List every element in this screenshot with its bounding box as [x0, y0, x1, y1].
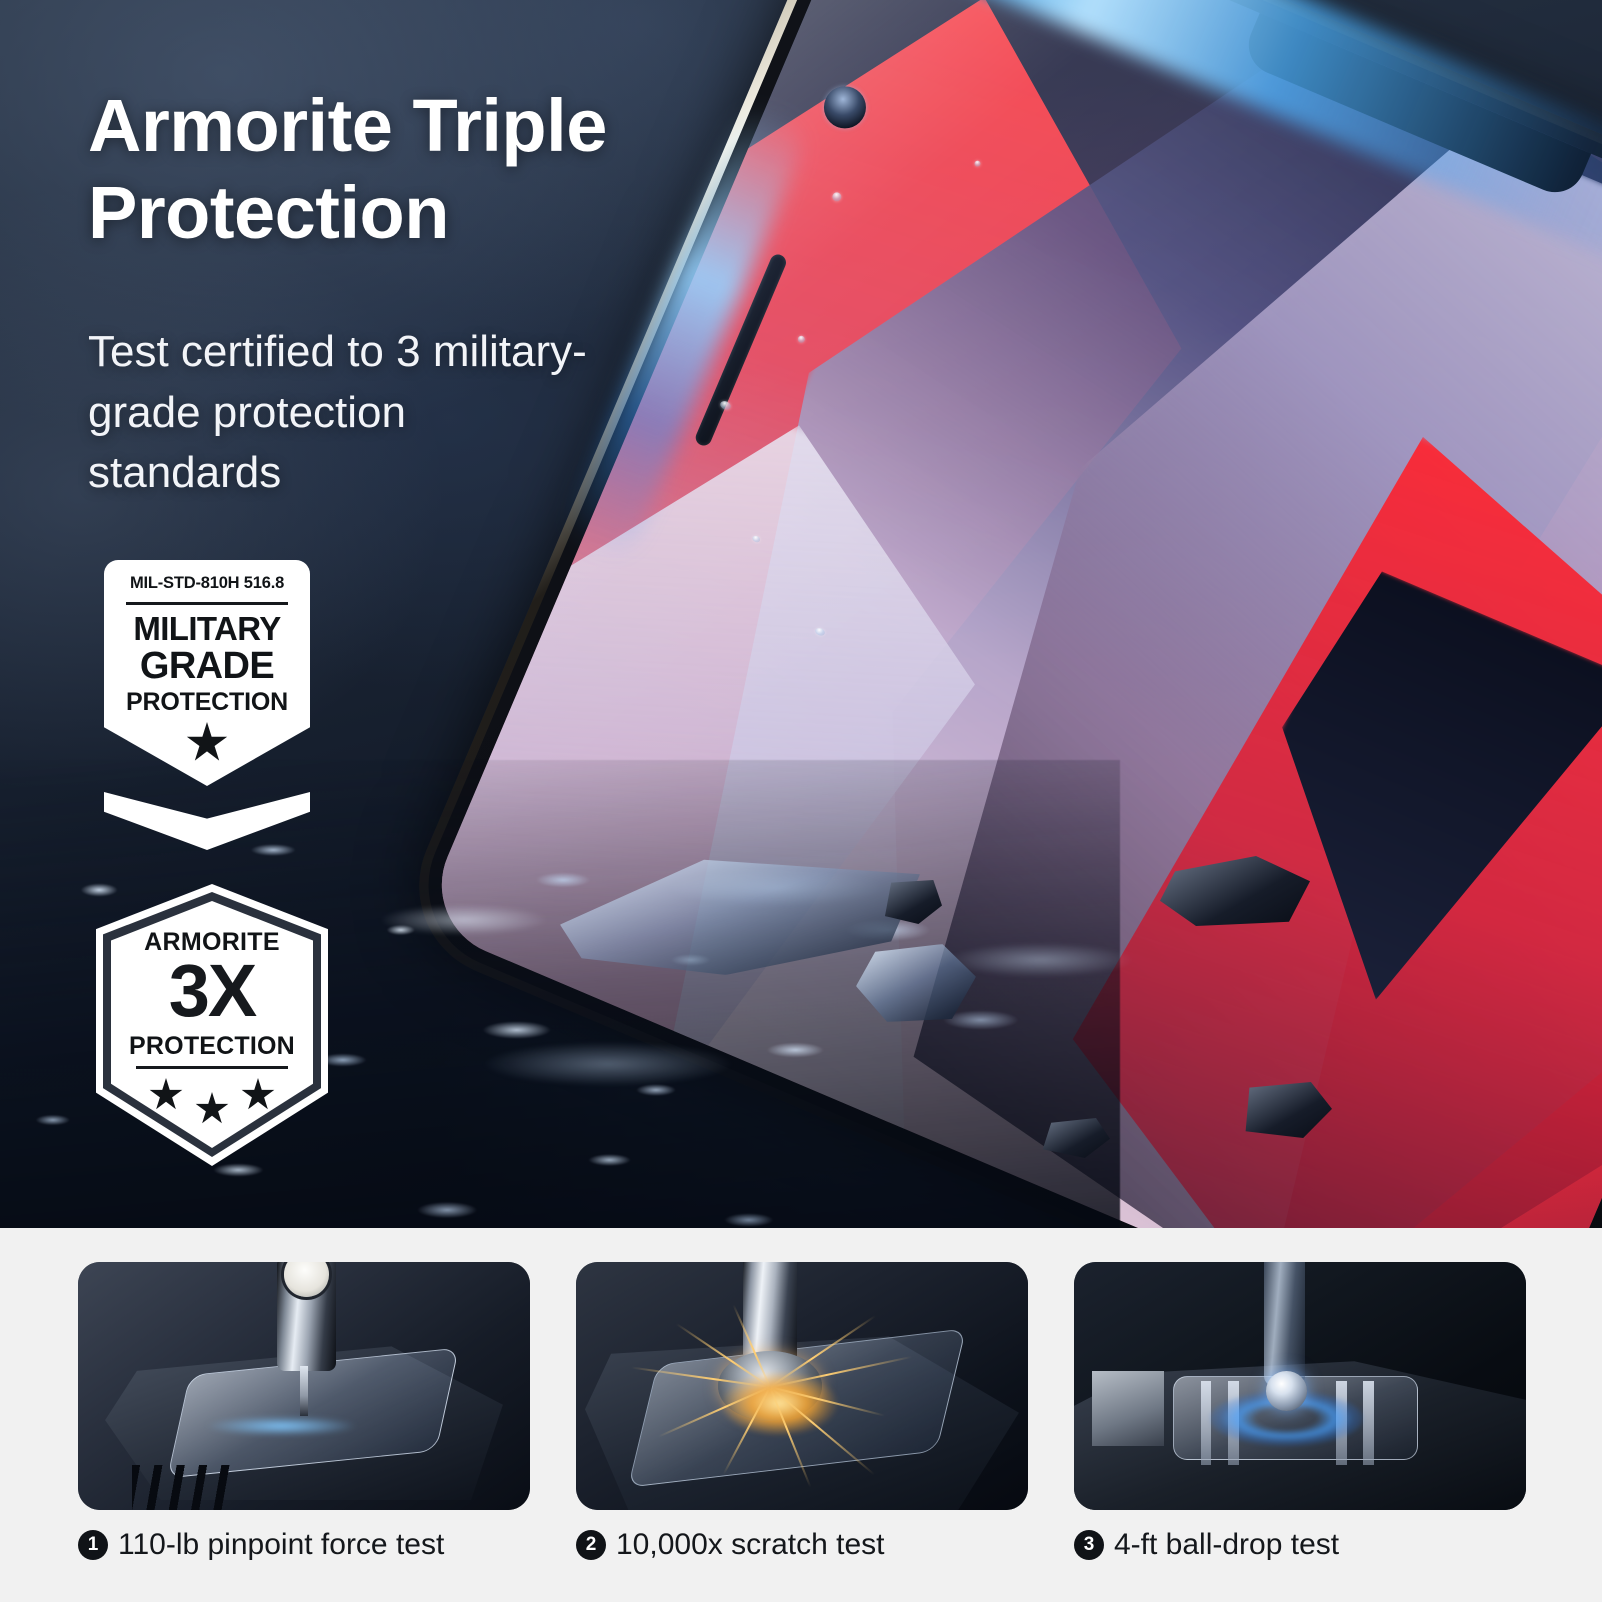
three-stars-icon [96, 1078, 328, 1126]
armorite-multiplier: 3X [96, 954, 328, 1028]
ball-drop-test-thumbnail[interactable] [1074, 1262, 1526, 1510]
test-caption: 3 4-ft ball-drop test [1074, 1528, 1526, 1562]
test-caption: 1 110-lb pinpoint force test [78, 1528, 530, 1562]
military-badge-line1: MILITARY [104, 610, 310, 648]
test-caption-text: 4-ft ball-drop test [1114, 1528, 1339, 1562]
test-gallery-panel: 1 110-lb pinpoint force test [0, 1228, 1602, 1602]
test-tile[interactable]: 3 4-ft ball-drop test [1074, 1262, 1526, 1562]
military-badge-line2: GRADE [104, 645, 310, 688]
star-icon [241, 1078, 275, 1112]
pinpoint-force-test-thumbnail[interactable] [78, 1262, 530, 1510]
test-caption-text: 10,000x scratch test [616, 1528, 884, 1562]
step-number-badge: 2 [576, 1530, 606, 1560]
step-number-badge: 3 [1074, 1530, 1104, 1560]
armorite-protection-label: PROTECTION [96, 1032, 328, 1061]
military-badge-chevron [104, 792, 310, 850]
test-tile[interactable]: 2 10,000x scratch test [576, 1262, 1028, 1562]
military-badge-divider [126, 602, 288, 605]
star-icon [149, 1078, 183, 1112]
test-caption-text: 110-lb pinpoint force test [118, 1528, 444, 1562]
test-tiles: 1 110-lb pinpoint force test [78, 1262, 1526, 1562]
armorite-badge-divider [136, 1066, 288, 1069]
armorite-3x-badge: ARMORITE 3X PROTECTION [96, 884, 328, 1166]
scratch-test-thumbnail[interactable] [576, 1262, 1028, 1510]
military-grade-badge: MIL-STD-810H 516.8 MILITARY GRADE PROTEC… [104, 560, 310, 850]
page-title: Armorite Triple Protection [88, 82, 748, 257]
step-number-badge: 1 [78, 1530, 108, 1560]
hero-subhead: Test certified to 3 military-grade prote… [88, 322, 608, 504]
test-caption: 2 10,000x scratch test [576, 1528, 1028, 1562]
hero-section: Armorite Triple Protection Test certifie… [0, 0, 1602, 1228]
military-badge-line3: PROTECTION [104, 688, 310, 717]
mil-std-label: MIL-STD-810H 516.8 [104, 574, 310, 593]
test-tile[interactable]: 1 110-lb pinpoint force test [78, 1262, 530, 1562]
star-icon [195, 1092, 229, 1126]
product-feature-page: Armorite Triple Protection Test certifie… [0, 0, 1602, 1602]
